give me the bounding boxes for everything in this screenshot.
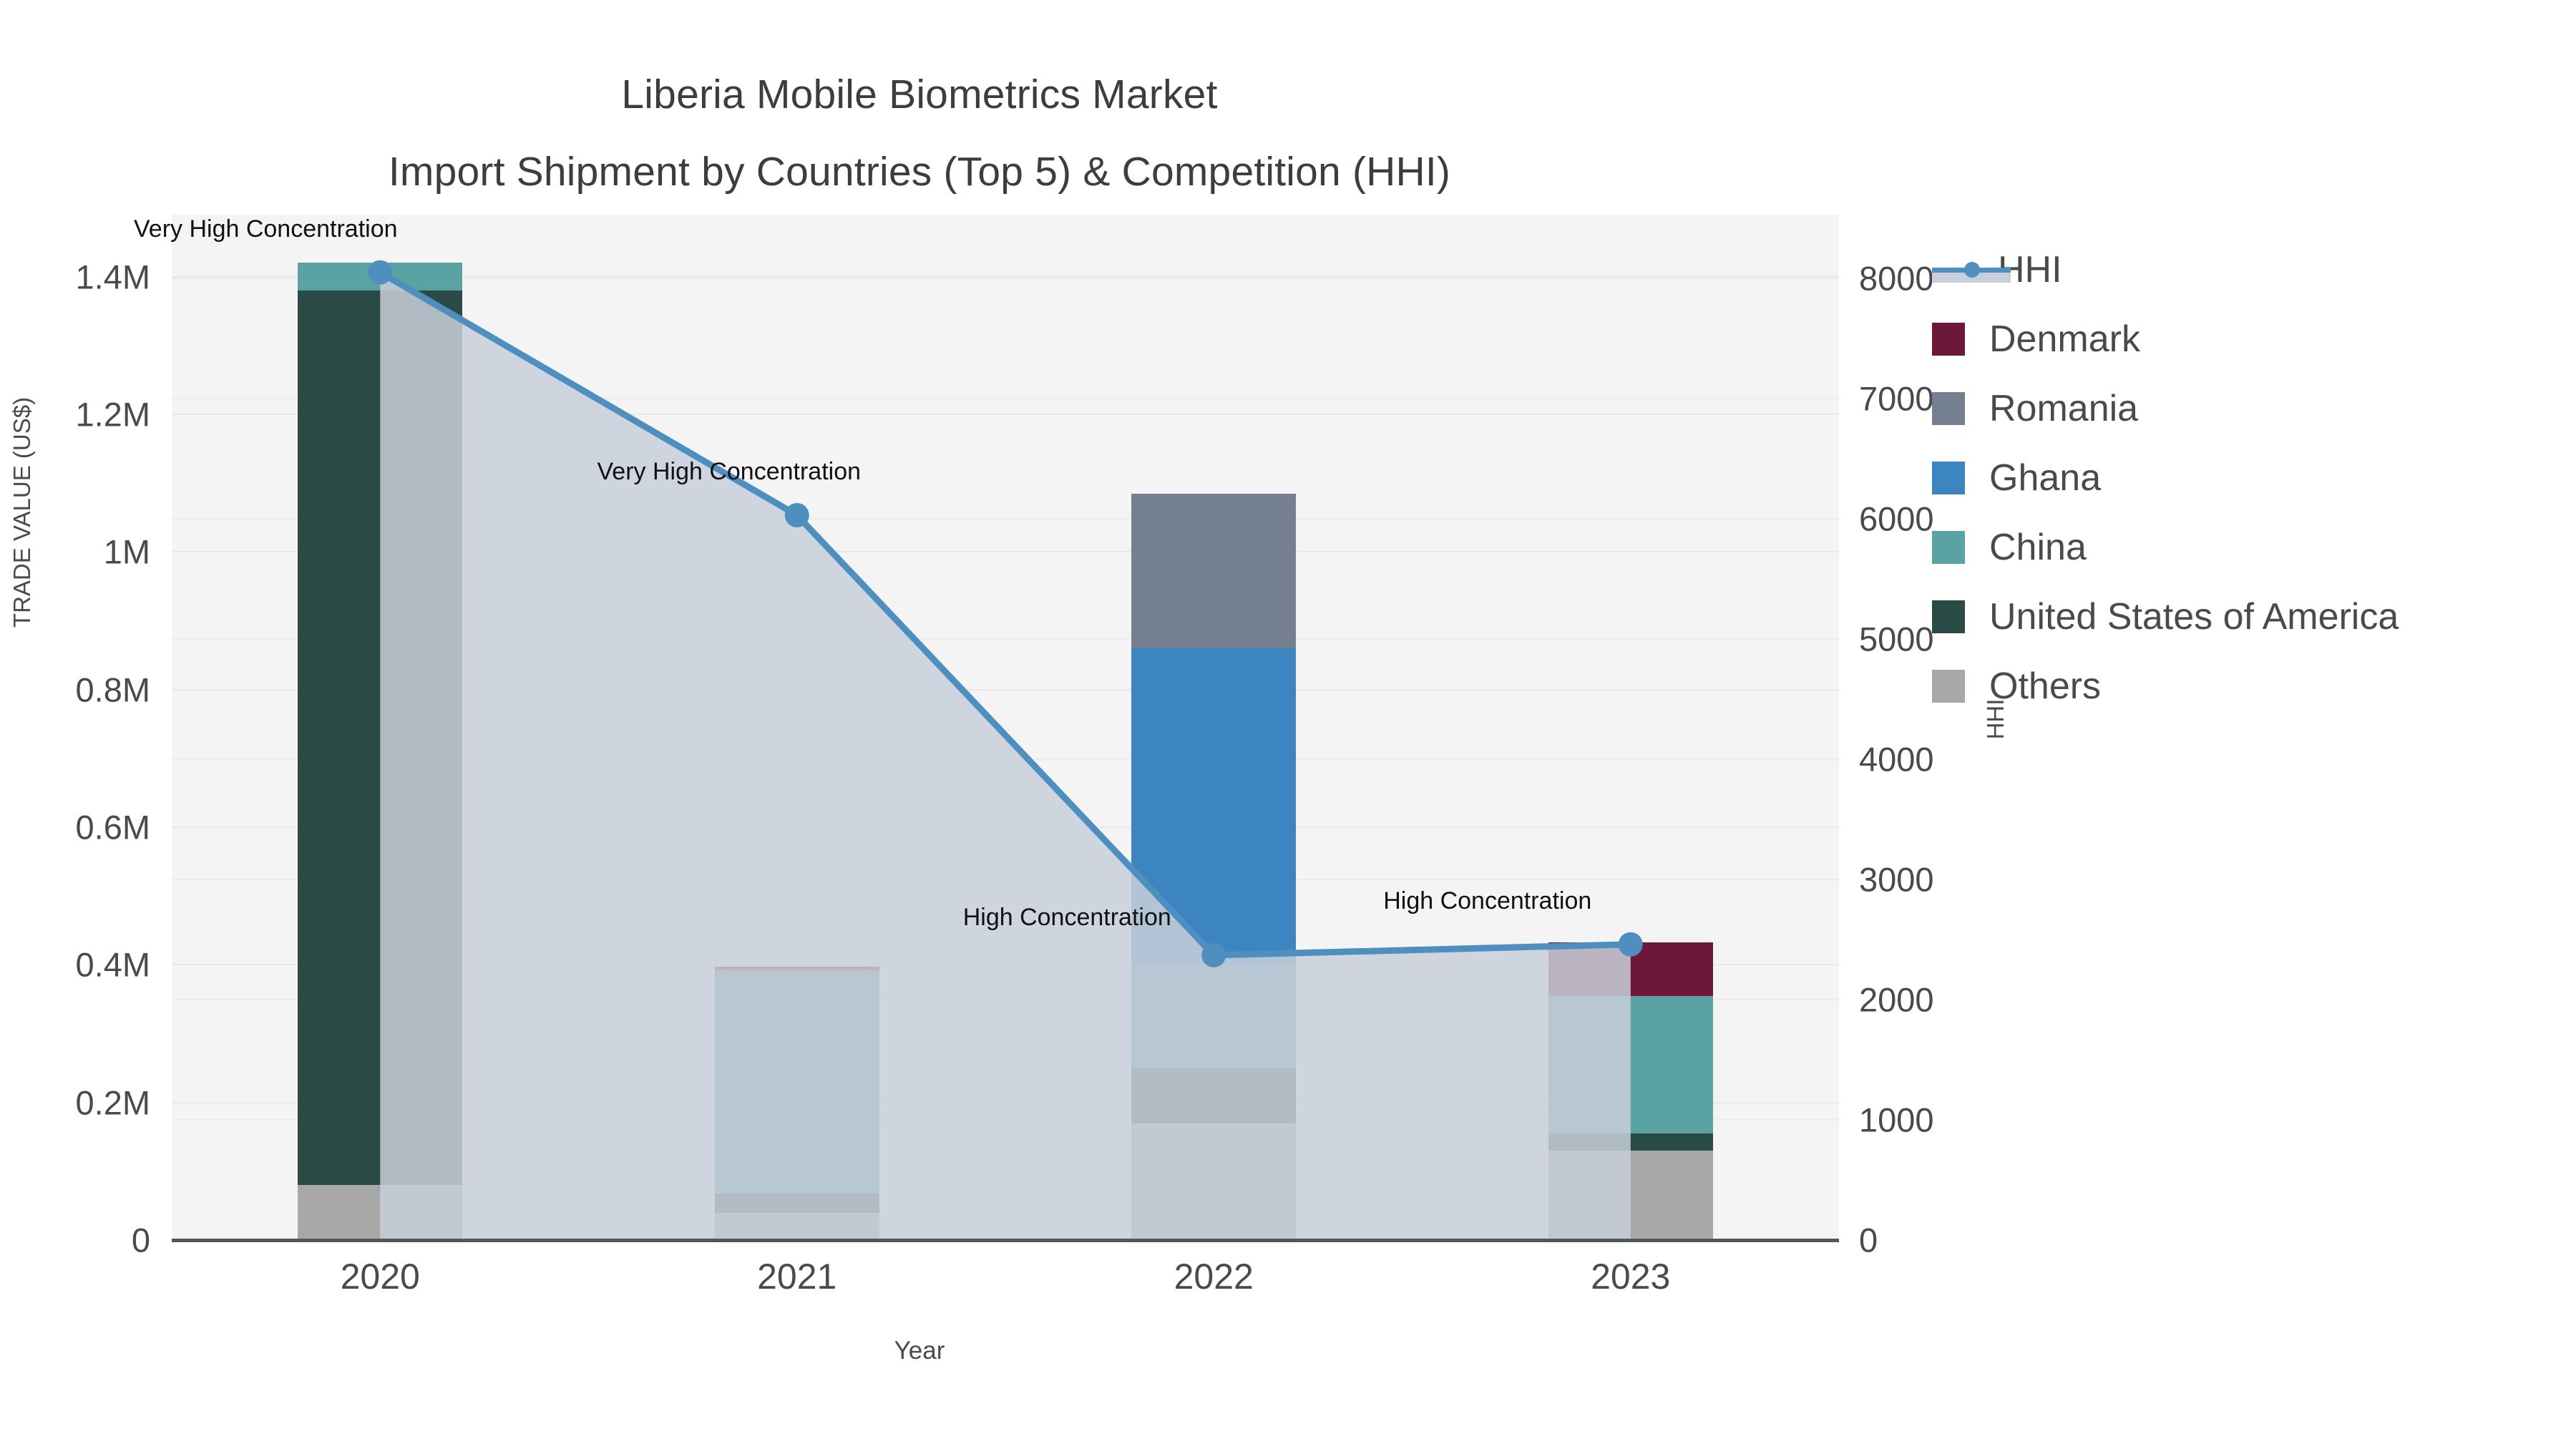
legend-item-china[interactable]: China <box>1932 512 2547 582</box>
hhi-line-series <box>172 215 1839 1240</box>
concentration-annotation: High Concentration <box>1383 887 1591 915</box>
hhi-area-fill <box>380 273 1631 1240</box>
legend-color-swatch <box>1932 462 1965 494</box>
hhi-data-point[interactable] <box>1619 932 1643 957</box>
chart-root: Liberia Mobile Biometrics Market Import … <box>0 0 2576 1449</box>
y-axis-tick-label: 1.4M <box>0 257 150 296</box>
hhi-data-point[interactable] <box>1201 943 1226 967</box>
hhi-data-point[interactable] <box>368 260 392 285</box>
y-axis-tick-label: 0.4M <box>0 945 150 985</box>
y-axis-tick-label: 0.6M <box>0 807 150 847</box>
chart-subtitle: Import Shipment by Countries (Top 5) & C… <box>0 133 1839 210</box>
x-axis-tick-label-2022: 2022 <box>1106 1256 1321 1297</box>
legend-color-swatch <box>1932 392 1965 425</box>
legend-item-united-states-of-america[interactable]: United States of America <box>1932 582 2547 651</box>
y-axis-tick-label: 0 <box>0 1221 150 1260</box>
x-axis-line <box>172 1239 1839 1242</box>
legend-item-romania[interactable]: Romania <box>1932 374 2547 443</box>
legend-line-marker <box>1932 253 2011 286</box>
legend-item-ghana[interactable]: Ghana <box>1932 443 2547 512</box>
concentration-annotation: Very High Concentration <box>597 458 861 486</box>
x-axis-tick-label-2020: 2020 <box>273 1256 487 1297</box>
legend-label: United States of America <box>1989 595 2399 638</box>
legend-color-swatch <box>1932 531 1965 564</box>
legend-dot-marker <box>1964 262 1980 278</box>
chart-title-block: Liberia Mobile Biometrics Market Import … <box>0 56 1839 210</box>
legend-label: Romania <box>1989 387 2138 430</box>
legend-item-others[interactable]: Others <box>1932 651 2547 721</box>
y2-axis-tick-label: 0 <box>1859 1221 2045 1260</box>
legend-color-swatch <box>1932 323 1965 356</box>
y2-axis-tick-label: 2000 <box>1859 980 2045 1020</box>
x-axis-tick-label-2023: 2023 <box>1523 1256 1738 1297</box>
legend-label: China <box>1989 526 2087 569</box>
y-axis-tick-label: 0.2M <box>0 1083 150 1122</box>
legend-color-swatch <box>1932 670 1965 703</box>
chart-title: Liberia Mobile Biometrics Market <box>0 56 1839 133</box>
legend-label: Denmark <box>1989 318 2140 361</box>
x-axis-tick-label-2021: 2021 <box>690 1256 904 1297</box>
y2-axis-tick-label: 3000 <box>1859 860 2045 899</box>
legend: HHIDenmarkRomaniaGhanaChinaUnited States… <box>1932 235 2547 721</box>
legend-item-denmark[interactable]: Denmark <box>1932 304 2547 374</box>
y-axis-title: TRADE VALUE (US$) <box>9 397 36 628</box>
legend-item-hhi[interactable]: HHI <box>1932 235 2547 304</box>
y-axis-tick-label: 0.8M <box>0 670 150 709</box>
y2-axis-tick-label: 1000 <box>1859 1101 2045 1140</box>
legend-color-swatch <box>1932 600 1965 633</box>
hhi-data-point[interactable] <box>785 503 809 527</box>
concentration-annotation: High Concentration <box>963 904 1171 932</box>
y2-axis-tick-label: 4000 <box>1859 740 2045 779</box>
legend-label: Ghana <box>1989 457 2101 499</box>
plot-inner <box>172 215 1839 1240</box>
concentration-annotation: Very High Concentration <box>134 215 398 243</box>
x-axis-title: Year <box>0 1337 1839 1365</box>
plot-area <box>172 215 1839 1240</box>
legend-label: Others <box>1989 665 2101 708</box>
